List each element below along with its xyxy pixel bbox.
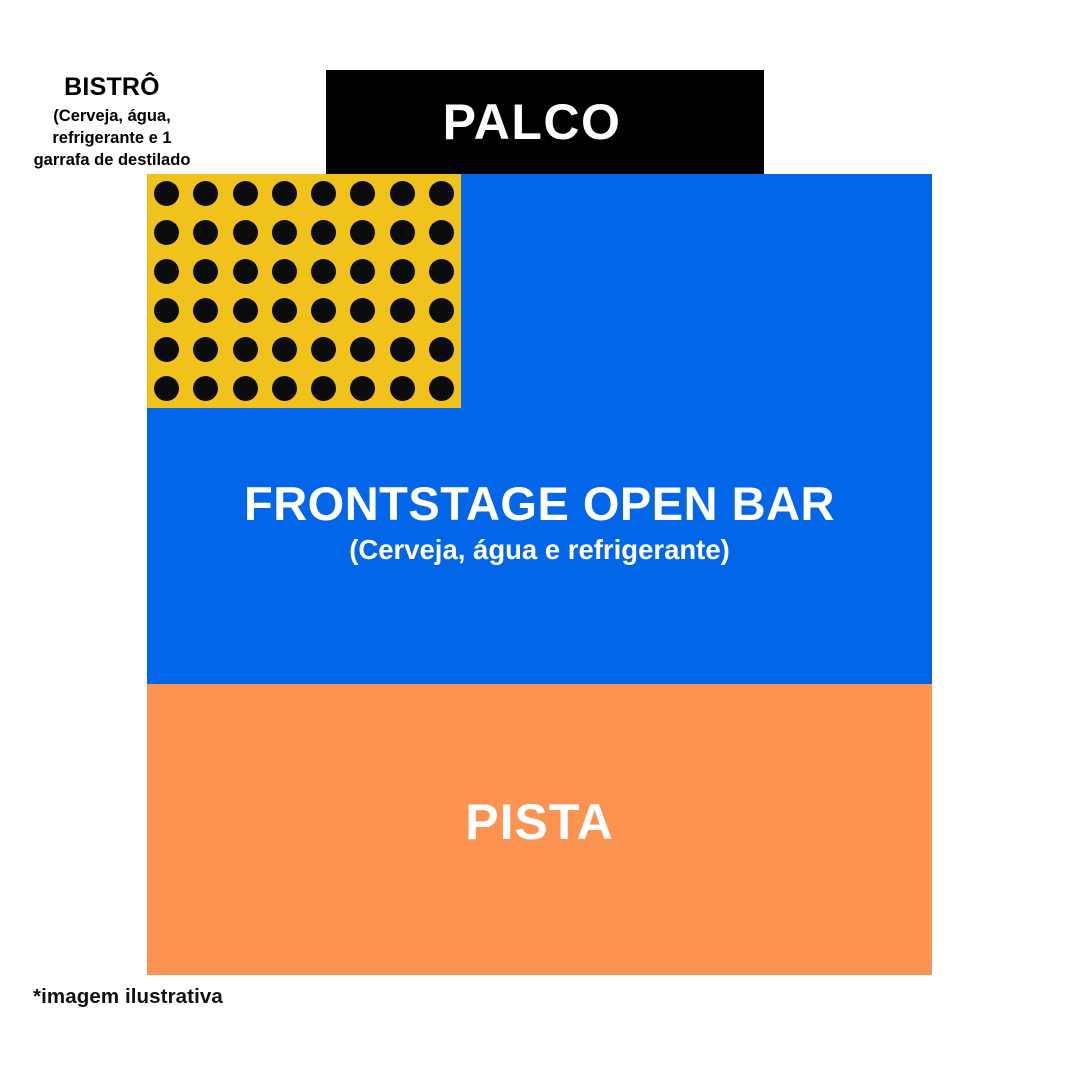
bistro-table[interactable]: [272, 259, 297, 284]
bistro-table[interactable]: [272, 376, 297, 401]
bistro-table[interactable]: [390, 181, 415, 206]
bistro-table[interactable]: [390, 259, 415, 284]
bistro-table[interactable]: [193, 376, 218, 401]
bistro-table[interactable]: [193, 181, 218, 206]
bistro-table[interactable]: [233, 259, 258, 284]
bistro-table[interactable]: [311, 259, 336, 284]
frontstage-title: FRONTSTAGE OPEN BAR: [147, 480, 932, 527]
bistro-table[interactable]: [233, 337, 258, 362]
bistro-table[interactable]: [390, 376, 415, 401]
stage-area[interactable]: PALCO: [326, 70, 764, 174]
bistro-table[interactable]: [193, 259, 218, 284]
bistro-table[interactable]: [193, 298, 218, 323]
bistro-table[interactable]: [272, 337, 297, 362]
bistro-table[interactable]: [350, 376, 375, 401]
bistro-table[interactable]: [350, 181, 375, 206]
bistro-table[interactable]: [429, 181, 454, 206]
bistro-table[interactable]: [311, 337, 336, 362]
bistro-table[interactable]: [390, 220, 415, 245]
bistro-table[interactable]: [429, 298, 454, 323]
bistro-table[interactable]: [390, 337, 415, 362]
bistro-table[interactable]: [390, 298, 415, 323]
bistro-table[interactable]: [311, 298, 336, 323]
bistro-table[interactable]: [154, 181, 179, 206]
illustrative-image-note: *imagem ilustrativa: [33, 985, 223, 1009]
frontstage-subtitle: (Cerveja, água e refrigerante): [147, 536, 932, 564]
venue-map: BISTRÔ (Cerveja, água, refrigerante e 1 …: [0, 0, 1080, 1080]
bistro-table[interactable]: [311, 376, 336, 401]
bistro-table[interactable]: [233, 220, 258, 245]
bistro-table[interactable]: [154, 376, 179, 401]
bistro-table[interactable]: [311, 181, 336, 206]
bistro-table[interactable]: [429, 337, 454, 362]
bistro-table[interactable]: [350, 337, 375, 362]
pista-label: PISTA: [147, 797, 932, 847]
bistro-table[interactable]: [350, 259, 375, 284]
bistro-table[interactable]: [233, 376, 258, 401]
bistro-table[interactable]: [272, 298, 297, 323]
bistro-legend-title: BISTRÔ: [14, 74, 210, 101]
bistro-table[interactable]: [154, 259, 179, 284]
bistro-table[interactable]: [193, 337, 218, 362]
bistro-legend-description-line-2: refrigerante e 1: [14, 128, 210, 150]
bistro-table[interactable]: [233, 181, 258, 206]
bistro-legend-description-line-1: (Cerveja, água,: [14, 106, 210, 128]
bistro-table[interactable]: [233, 298, 258, 323]
bistro-table[interactable]: [429, 220, 454, 245]
bistro-legend: BISTRÔ (Cerveja, água, refrigerante e 1 …: [14, 74, 210, 171]
bistro-table[interactable]: [154, 298, 179, 323]
bistro-table[interactable]: [429, 376, 454, 401]
bistro-table[interactable]: [350, 220, 375, 245]
bistro-table[interactable]: [193, 220, 218, 245]
bistro-table[interactable]: [272, 220, 297, 245]
stage-label: PALCO: [443, 93, 622, 151]
bistro-table[interactable]: [272, 181, 297, 206]
bistro-table[interactable]: [154, 220, 179, 245]
bistro-legend-description-line-3: garrafa de destilado: [14, 150, 210, 172]
bistro-table[interactable]: [429, 259, 454, 284]
bistro-table[interactable]: [350, 298, 375, 323]
bistro-table-area[interactable]: [147, 174, 461, 408]
bistro-table[interactable]: [311, 220, 336, 245]
pista-area[interactable]: PISTA: [147, 684, 932, 975]
bistro-legend-description: (Cerveja, água, refrigerante e 1 garrafa…: [14, 106, 210, 171]
bistro-table[interactable]: [154, 337, 179, 362]
